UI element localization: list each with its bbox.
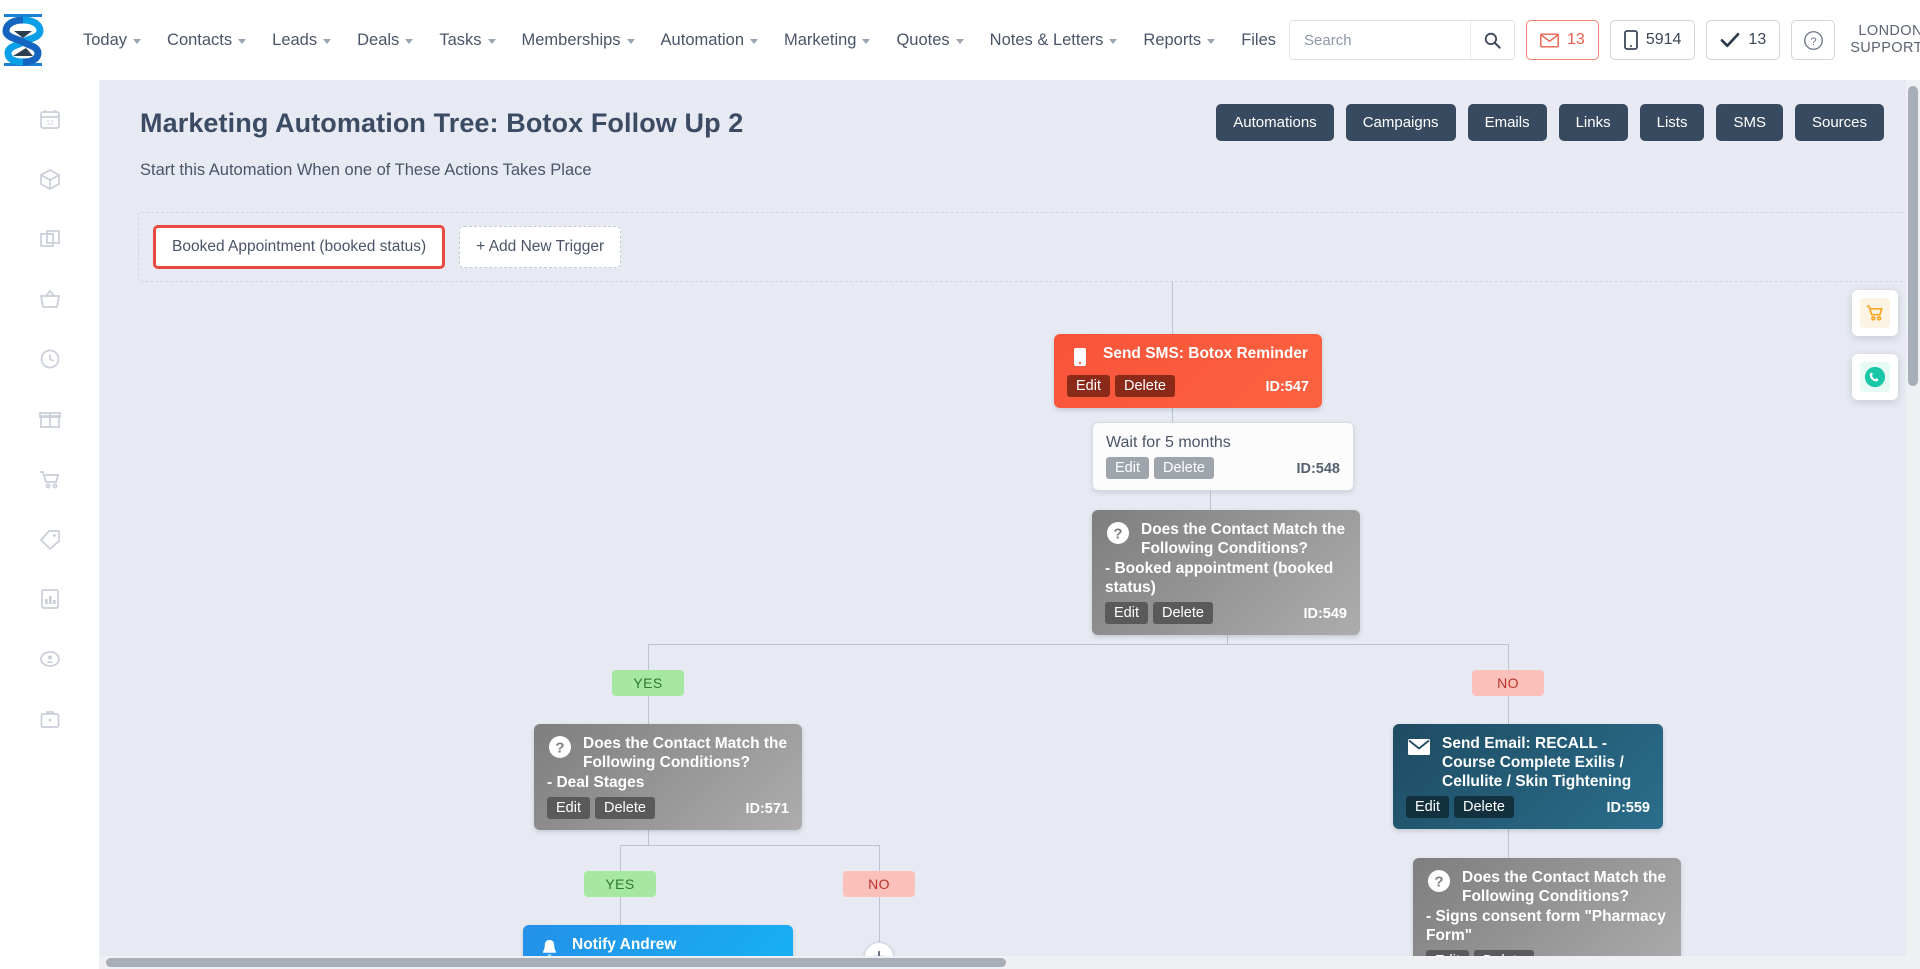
sms-count: 5914 — [1646, 31, 1682, 49]
edit-button[interactable]: Edit — [547, 797, 590, 819]
question-circle-icon: ? — [547, 734, 573, 760]
svg-text:?: ? — [1113, 526, 1122, 543]
node-actions: Edit Delete ID:559 — [1406, 796, 1650, 818]
delete-button[interactable]: Delete — [1454, 796, 1514, 818]
user-name-line1: LONDON — [1850, 23, 1920, 40]
node-header: Send Email: RECALL - Course Complete Exi… — [1406, 734, 1650, 791]
search-icon — [1483, 31, 1502, 50]
edit-button[interactable]: Edit — [1067, 375, 1110, 397]
phone-call-icon — [1864, 366, 1886, 388]
trigger-booked-appointment[interactable]: Booked Appointment (booked status) — [153, 225, 445, 269]
node-title: Wait for 5 months — [1106, 433, 1231, 452]
nav-item-marketing[interactable]: Marketing — [771, 31, 883, 50]
branch-label-yes: YES — [584, 871, 656, 897]
nav-item-deals[interactable]: Deals — [344, 31, 426, 50]
sidebar-item-user-refresh[interactable] — [35, 644, 65, 674]
edit-button[interactable]: Edit — [1106, 457, 1149, 479]
node-condition-571: ? Does the Contact Match the Following C… — [534, 724, 802, 830]
main-navigation: Today Contacts Leads Deals Tasks Members… — [70, 31, 1289, 50]
envelope-icon — [1540, 33, 1559, 48]
floating-call-button[interactable] — [1852, 354, 1898, 400]
chevron-down-icon — [862, 39, 870, 44]
mobile-phone-icon — [1624, 30, 1638, 50]
sidebar-item-products[interactable] — [35, 164, 65, 194]
nav-label: Leads — [272, 31, 317, 50]
chevron-down-icon — [405, 39, 413, 44]
branch-label-yes: YES — [612, 670, 684, 696]
nav-item-memberships[interactable]: Memberships — [509, 31, 648, 50]
svg-text:?: ? — [1810, 35, 1816, 47]
node-actions: Edit Delete ID:548 — [1106, 457, 1340, 479]
node-id: ID:571 — [745, 801, 789, 817]
page-subtitle: Start this Automation When one of These … — [140, 161, 1920, 180]
nav-label: Contacts — [167, 31, 232, 50]
node-title: Does the Contact Match the Following Con… — [1462, 868, 1668, 906]
chevron-down-icon — [323, 39, 331, 44]
nav-label: Memberships — [522, 31, 621, 50]
nav-item-quotes[interactable]: Quotes — [883, 31, 976, 50]
node-send-sms: Send SMS: Botox Reminder Edit Delete ID:… — [1054, 334, 1322, 408]
node-condition-549: ? Does the Contact Match the Following C… — [1092, 510, 1360, 635]
delete-button[interactable]: Delete — [1153, 602, 1213, 624]
user-menu[interactable]: LONDON SUPPORT — [1850, 20, 1920, 60]
header-tools: 13 5914 13 ? — [1289, 20, 1920, 60]
emails-button[interactable]: Emails — [1468, 104, 1547, 141]
campaigns-button[interactable]: Campaigns — [1346, 104, 1456, 141]
nav-label: Automation — [661, 31, 744, 50]
node-title: Does the Contact Match the Following Con… — [583, 734, 789, 772]
sources-button[interactable]: Sources — [1795, 104, 1884, 141]
nav-item-reports[interactable]: Reports — [1130, 31, 1228, 50]
nav-item-files[interactable]: Files — [1228, 31, 1289, 50]
sidebar-item-gift[interactable] — [35, 404, 65, 434]
chevron-down-icon — [133, 39, 141, 44]
sidebar-item-windows[interactable] — [35, 224, 65, 254]
node-id: ID:548 — [1296, 461, 1340, 477]
chevron-down-icon — [238, 39, 246, 44]
horizontal-scrollbar-thumb[interactable] — [106, 958, 1006, 967]
node-id: ID:549 — [1303, 606, 1347, 622]
sidebar-item-cart[interactable] — [35, 464, 65, 494]
branch-label-no: NO — [1472, 670, 1544, 696]
shopping-cart-icon — [1865, 303, 1885, 323]
node-actions: Edit Delete ID:571 — [547, 797, 789, 819]
sidebar-item-history[interactable] — [35, 344, 65, 374]
automations-button[interactable]: Automations — [1216, 104, 1333, 141]
node-title: Notify Andrew — [572, 935, 676, 954]
sidebar-item-tag[interactable] — [35, 524, 65, 554]
mail-counter-button[interactable]: 13 — [1526, 20, 1599, 60]
chevron-down-icon — [1109, 39, 1117, 44]
connector-line — [1227, 644, 1509, 645]
main-content: Marketing Automation Tree: Botox Follow … — [100, 80, 1920, 969]
horizontal-scrollbar[interactable] — [100, 956, 1906, 969]
node-header: Wait for 5 months — [1106, 433, 1340, 452]
node-header: ? Does the Contact Match the Following C… — [547, 734, 789, 772]
history-clock-icon — [38, 347, 62, 371]
node-wait: Wait for 5 months Edit Delete ID:548 — [1092, 422, 1354, 491]
nav-label: Today — [83, 31, 127, 50]
connector-line — [648, 644, 649, 670]
question-circle-icon: ? — [1105, 520, 1131, 546]
node-condition: - Booked appointment (booked status) — [1105, 559, 1347, 597]
trigger-strip: Booked Appointment (booked status) + Add… — [138, 212, 1908, 282]
left-sidebar: 12 — [0, 80, 100, 969]
sidebar-item-basket[interactable] — [35, 284, 65, 314]
cart-chip — [1860, 298, 1890, 328]
chevron-down-icon — [1207, 39, 1215, 44]
user-refresh-icon — [38, 647, 62, 671]
edit-button[interactable]: Edit — [1105, 602, 1148, 624]
lists-button[interactable]: Lists — [1640, 104, 1705, 141]
calendar-icon: 12 — [38, 107, 62, 131]
branch-label-no: NO — [843, 871, 915, 897]
nav-label: Marketing — [784, 31, 856, 50]
shopping-cart-icon — [38, 467, 62, 491]
sidebar-item-calendar[interactable]: 12 — [35, 104, 65, 134]
node-header: ? Does the Contact Match the Following C… — [1426, 868, 1668, 906]
nav-item-notes-letters[interactable]: Notes & Letters — [977, 31, 1131, 50]
search-button[interactable] — [1470, 21, 1514, 59]
sms-button[interactable]: SMS — [1716, 104, 1783, 141]
nav-label: Quotes — [896, 31, 949, 50]
node-id: ID:547 — [1265, 379, 1309, 395]
connector-line — [1172, 282, 1173, 334]
chevron-down-icon — [488, 39, 496, 44]
mail-count: 13 — [1567, 31, 1585, 49]
node-condition: - Signs consent form "Pharmacy Form" — [1426, 907, 1668, 945]
vertical-scrollbar-thumb[interactable] — [1908, 86, 1918, 386]
sidebar-item-briefcase[interactable] — [35, 704, 65, 734]
connector-line — [879, 897, 880, 942]
question-circle-icon: ? — [1426, 868, 1452, 894]
connector-line — [620, 845, 621, 871]
nav-label: Tasks — [439, 31, 481, 50]
svg-text:?: ? — [1434, 874, 1443, 891]
chevron-down-icon — [627, 39, 635, 44]
nav-label: Notes & Letters — [990, 31, 1104, 50]
connector-line — [620, 845, 879, 846]
nav-label: Deals — [357, 31, 399, 50]
connector-line — [620, 897, 621, 925]
connector-line — [1508, 644, 1509, 670]
delete-button[interactable]: Delete — [1115, 375, 1175, 397]
call-chip — [1860, 362, 1890, 392]
floating-widgets — [1852, 290, 1898, 400]
chevron-down-icon — [956, 39, 964, 44]
node-title: Send Email: RECALL - Course Complete Exi… — [1442, 734, 1650, 791]
hourglass-logo-icon — [0, 12, 46, 68]
connector-line — [1508, 696, 1509, 724]
chevron-down-icon — [750, 39, 758, 44]
svg-text:?: ? — [555, 740, 564, 757]
delete-button[interactable]: Delete — [1154, 457, 1214, 479]
svg-text:12: 12 — [46, 120, 54, 127]
task-count: 13 — [1748, 31, 1766, 49]
node-actions: Edit Delete ID:549 — [1105, 602, 1347, 624]
nav-item-leads[interactable]: Leads — [259, 31, 344, 50]
task-counter-button[interactable]: 13 — [1706, 20, 1780, 60]
top-header: Today Contacts Leads Deals Tasks Members… — [0, 0, 1920, 80]
nav-label: Reports — [1143, 31, 1201, 50]
connector-line — [648, 696, 649, 724]
envelope-icon — [1406, 734, 1432, 760]
node-send-email: Send Email: RECALL - Course Complete Exi… — [1393, 724, 1663, 829]
search-input[interactable] — [1290, 21, 1470, 59]
shopping-basket-icon — [38, 287, 62, 311]
node-condition: - Deal Stages — [547, 773, 789, 792]
node-title: Does the Contact Match the Following Con… — [1141, 520, 1347, 558]
page-action-buttons: Automations Campaigns Emails Links Lists… — [1216, 104, 1884, 141]
app-root: Today Contacts Leads Deals Tasks Members… — [0, 0, 1920, 969]
tag-icon — [38, 527, 62, 551]
sms-counter-button[interactable]: 5914 — [1610, 20, 1696, 60]
nav-item-tasks[interactable]: Tasks — [426, 31, 508, 50]
delete-button[interactable]: Delete — [595, 797, 655, 819]
connector-line — [879, 845, 880, 871]
check-icon — [1720, 32, 1740, 48]
vertical-scrollbar[interactable] — [1906, 80, 1920, 969]
mobile-phone-icon — [1067, 344, 1093, 370]
connector-line — [648, 644, 1227, 645]
node-actions: Edit Delete ID:547 — [1067, 375, 1309, 397]
automation-tree-canvas: Send SMS: Botox Reminder Edit Delete ID:… — [100, 282, 1920, 962]
briefcase-lock-icon — [38, 707, 62, 731]
report-chart-icon — [38, 587, 62, 611]
links-button[interactable]: Links — [1559, 104, 1628, 141]
node-title: Send SMS: Botox Reminder — [1103, 344, 1308, 363]
page-header: Marketing Automation Tree: Botox Follow … — [100, 80, 1920, 180]
nav-item-automation[interactable]: Automation — [648, 31, 771, 50]
node-header: Send SMS: Botox Reminder — [1067, 344, 1309, 370]
sidebar-item-reports[interactable] — [35, 584, 65, 614]
edit-button[interactable]: Edit — [1406, 796, 1449, 818]
nav-item-contacts[interactable]: Contacts — [154, 31, 259, 50]
floating-cart-button[interactable] — [1852, 290, 1898, 336]
node-header: ? Does the Contact Match the Following C… — [1105, 520, 1347, 558]
nav-label: Files — [1241, 31, 1276, 50]
user-name: LONDON SUPPORT — [1850, 23, 1920, 57]
node-id: ID:559 — [1606, 800, 1650, 816]
nav-item-today[interactable]: Today — [70, 31, 154, 50]
question-mark-icon: ? — [1803, 30, 1824, 51]
node-condition-560: ? Does the Contact Match the Following C… — [1413, 858, 1681, 969]
brand-logo[interactable] — [0, 0, 46, 80]
search-box — [1289, 20, 1515, 60]
gift-icon — [38, 407, 62, 431]
user-name-line2: SUPPORT — [1850, 40, 1920, 57]
add-new-trigger-button[interactable]: + Add New Trigger — [459, 226, 621, 268]
copy-windows-icon — [38, 227, 62, 251]
help-button[interactable]: ? — [1791, 20, 1835, 60]
box-icon — [38, 167, 62, 191]
